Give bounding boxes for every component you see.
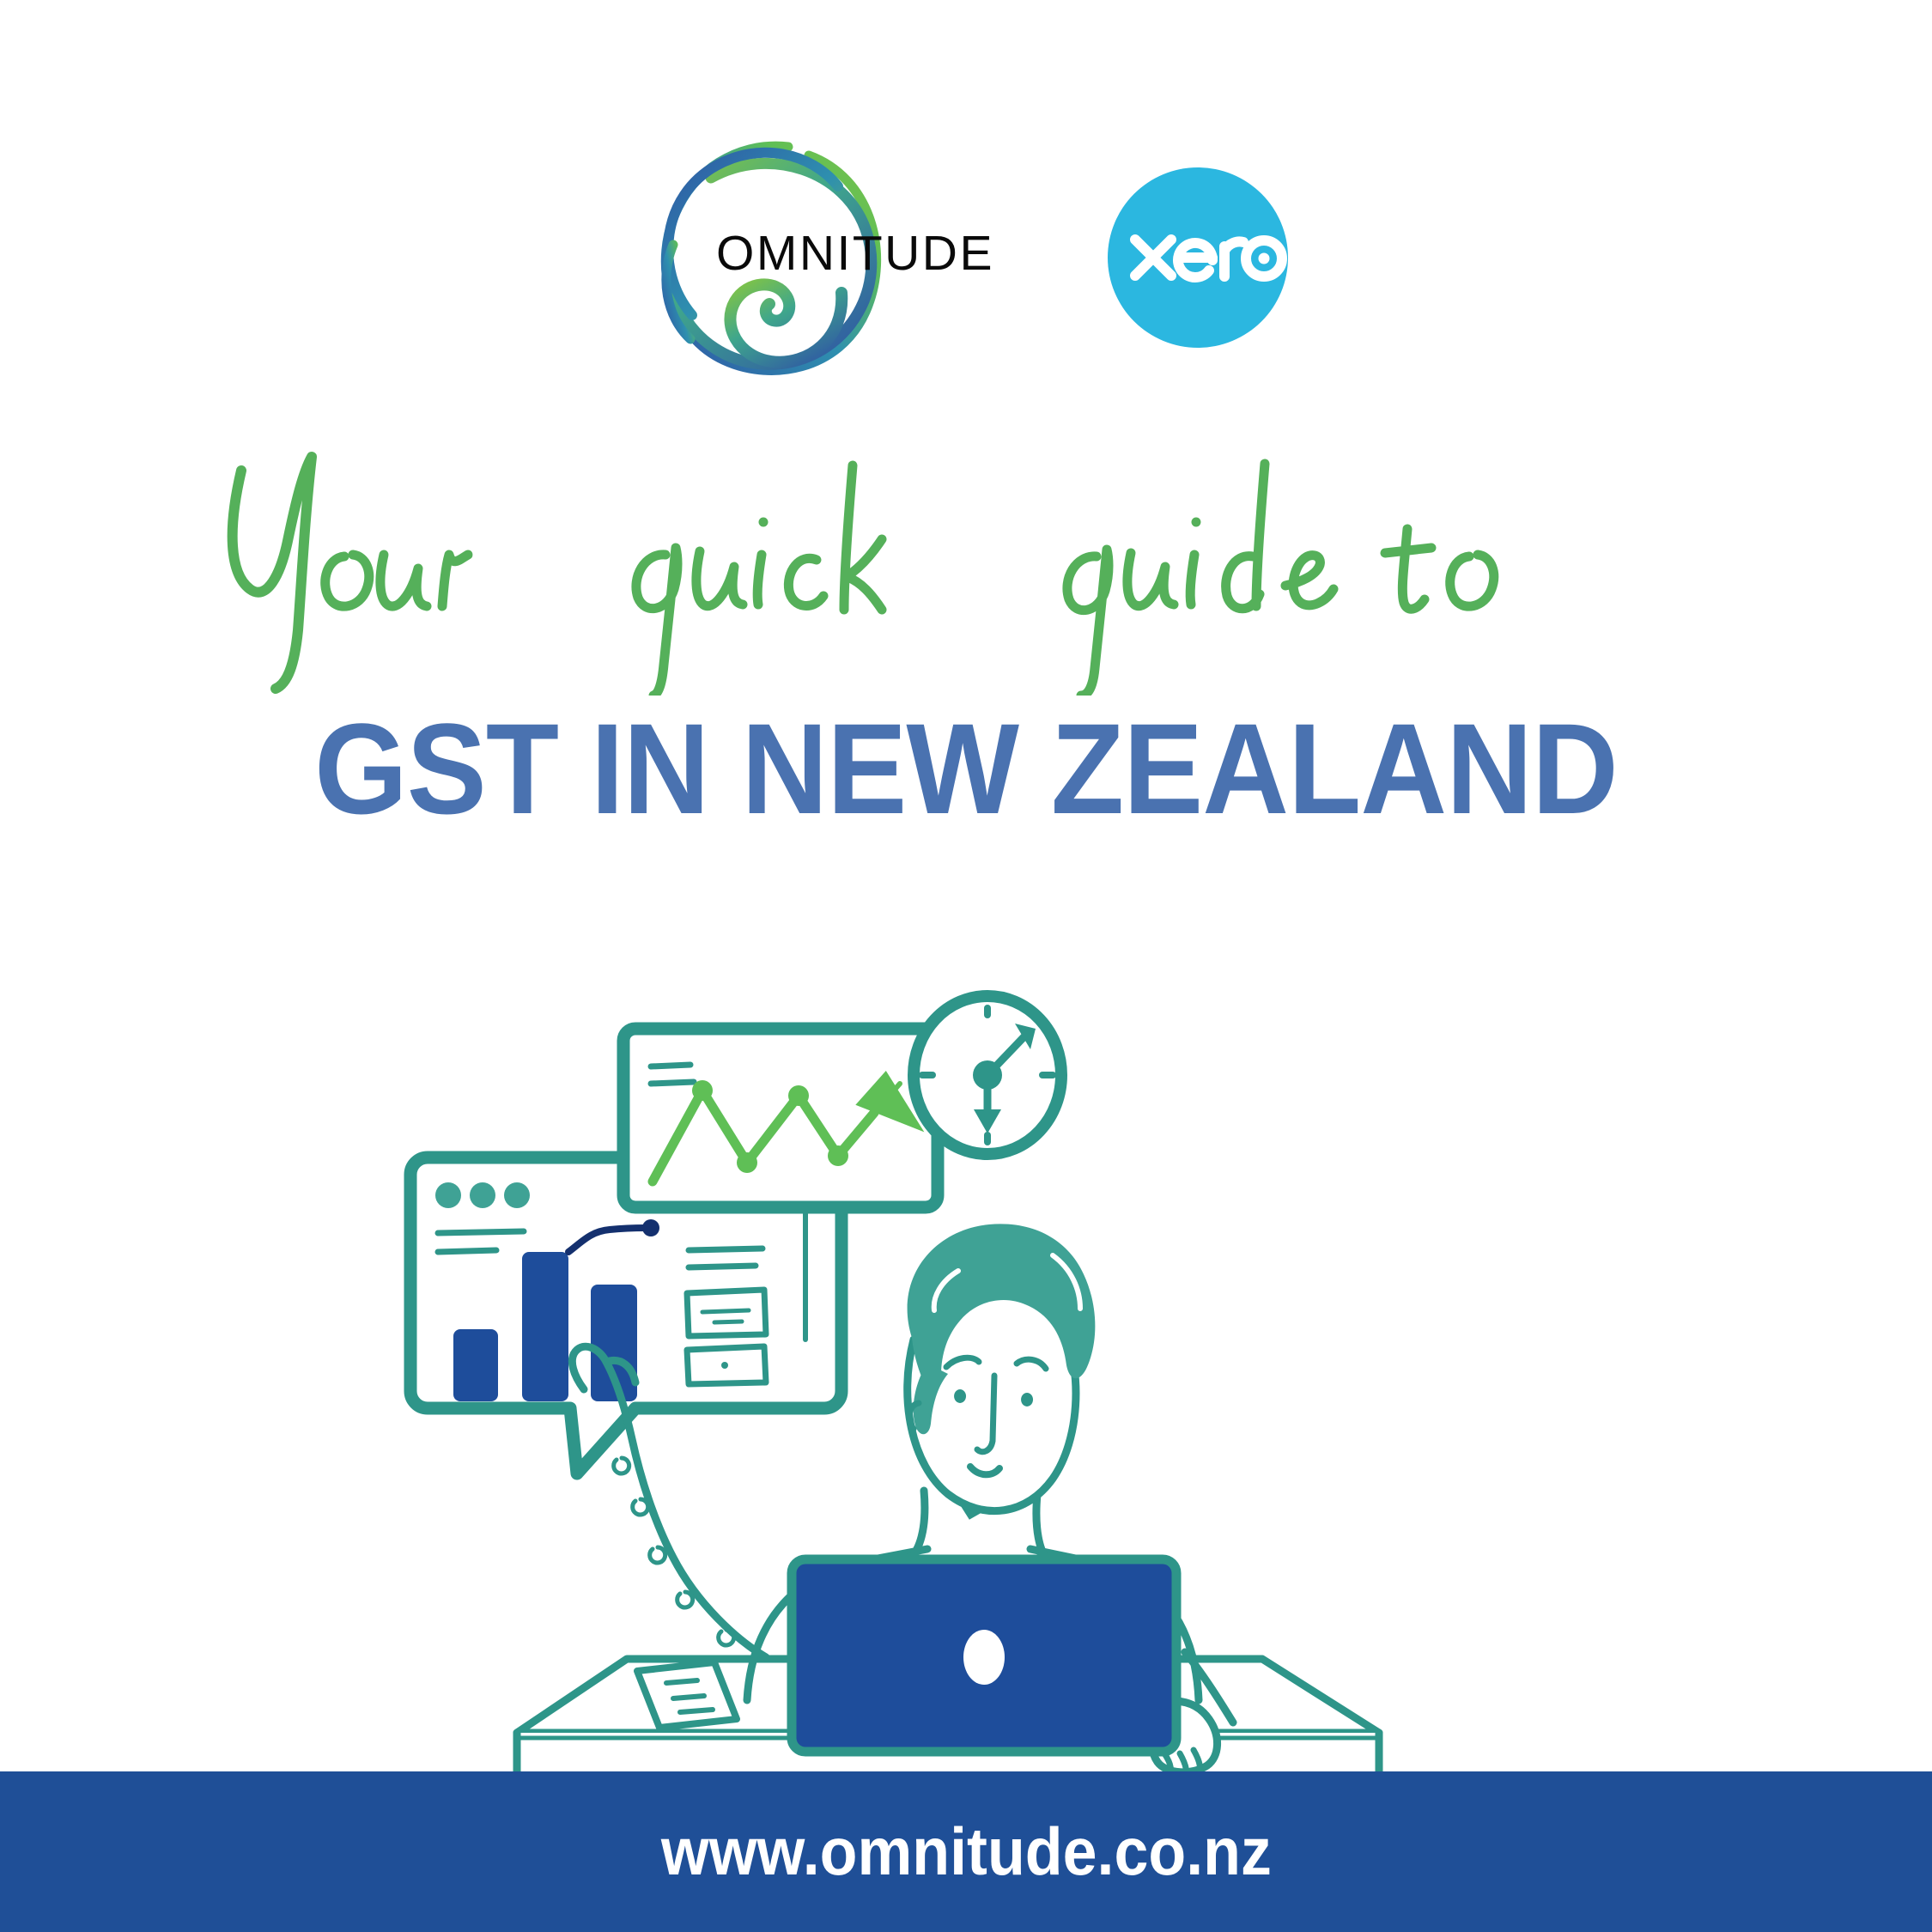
script-headline xyxy=(0,447,1932,704)
omnitude-wordmark: OMNITUDE xyxy=(716,229,994,278)
poster-canvas: OMNITUDE xyxy=(0,0,1932,1932)
paper-document xyxy=(637,1662,737,1728)
hero-illustration-art xyxy=(378,979,1563,1786)
website-url[interactable]: www.omnitude.co.nz xyxy=(661,1813,1272,1891)
wall-clock-icon xyxy=(914,996,1061,1154)
logo-row: OMNITUDE xyxy=(0,129,1932,386)
hero-illustration xyxy=(378,979,1563,1786)
xero-logo xyxy=(1104,164,1291,351)
xero-logo-icon xyxy=(1104,164,1291,351)
laptop xyxy=(792,1559,1176,1752)
omnitude-logo: OMNITUDE xyxy=(641,133,1044,382)
page-title: GST IN NEW ZEALAND xyxy=(68,704,1865,833)
script-headline-art xyxy=(185,447,1747,696)
footer-band: www.omnitude.co.nz xyxy=(0,1771,1932,1932)
